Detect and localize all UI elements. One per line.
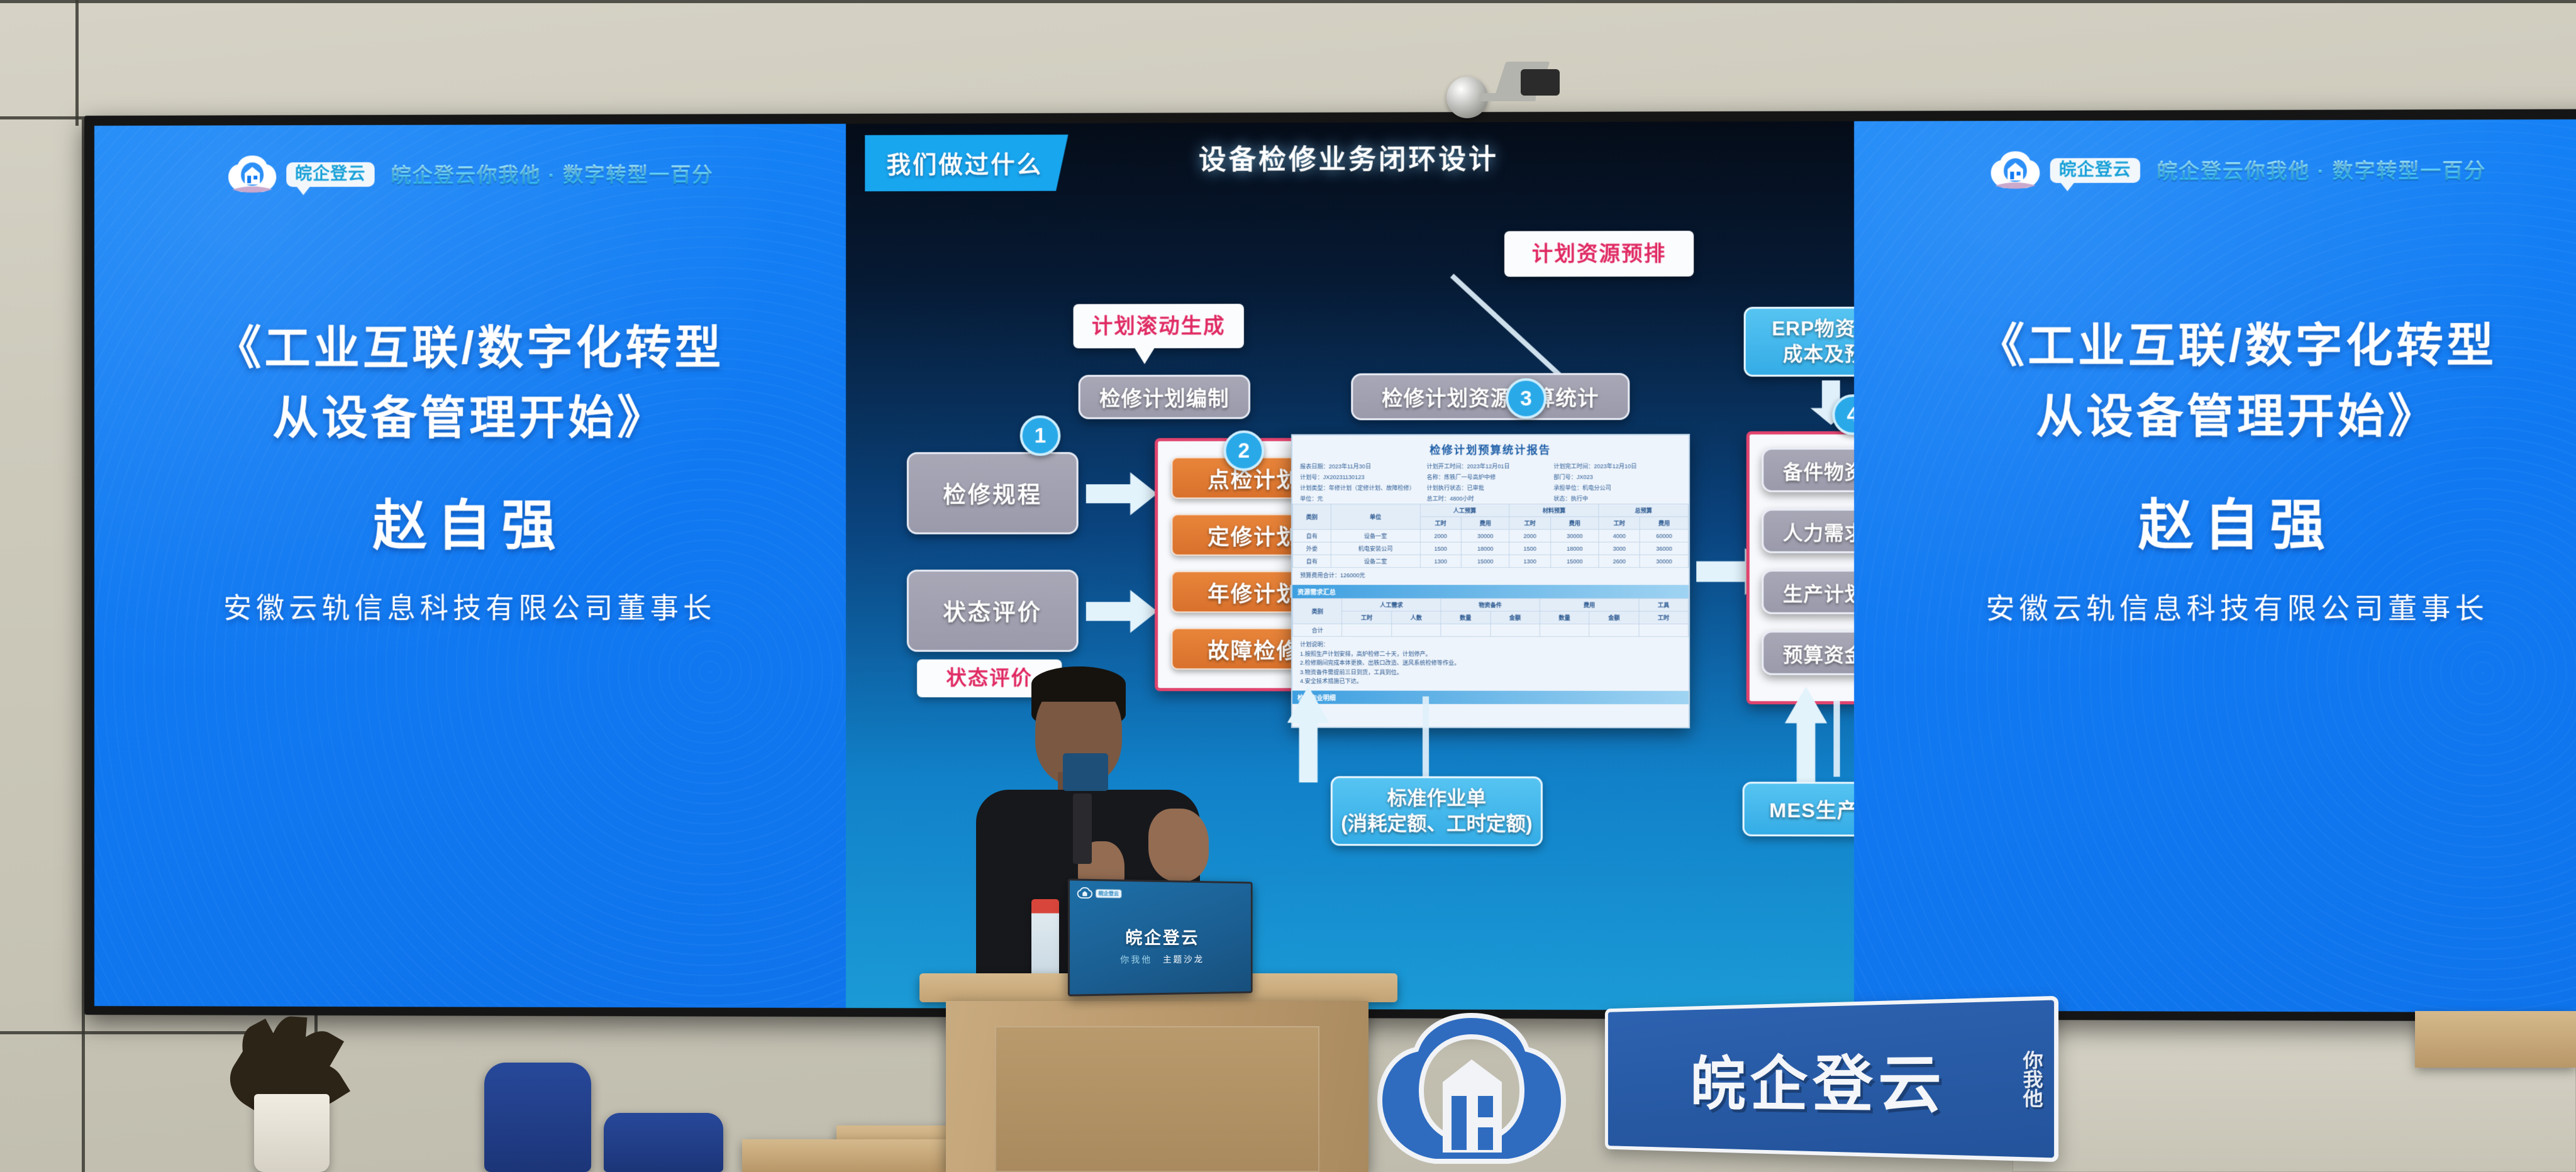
- laptop-sub-right: 主题沙龙: [1163, 954, 1204, 964]
- speaker-name: 赵自强: [1854, 480, 2576, 560]
- subcol-cost: 费用: [1461, 517, 1509, 529]
- cell-category: 自有: [1292, 555, 1331, 567]
- left-title-panel: 皖企登云 皖企登云你我他 · 数字转型一百分 《工业互联/数字化转型 从设备管理…: [94, 124, 846, 1008]
- podium-laptop: 皖企登云 皖企登云 你我他 主题沙龙: [1068, 878, 1253, 996]
- table-row: 外委 机电安装公司 1500 18000 1500 18000 3000 360…: [1292, 542, 1688, 555]
- node-standard-work-order: 标准作业单 (消耗定额、工时定额): [1331, 776, 1543, 846]
- note-line: 3.物资备件需提前三日到货，工具到位。: [1300, 668, 1681, 677]
- wall-seam: [0, 1031, 252, 1034]
- laptop-main-text: 皖企登云: [1070, 924, 1251, 949]
- cell-value: 15000: [1550, 555, 1599, 567]
- brand-badge: 皖企登云: [286, 162, 374, 186]
- side-table-right: [2415, 1011, 2576, 1068]
- subcol-amount: 金额: [1491, 611, 1540, 624]
- callout-leader-line: [1450, 274, 1562, 377]
- sign-main-text: 皖企登云: [1608, 1031, 2054, 1127]
- cell-unit: 设备一室: [1331, 529, 1420, 542]
- cell-value: 1500: [1420, 542, 1461, 555]
- table-header-row: 类别 人工需求 物资备件 费用 工具: [1292, 599, 1688, 611]
- front-row-table: [742, 1139, 950, 1172]
- report-budget-table: 类别 单位 人工预算 材料预算 总预算 工时 费用 工时 费用 工时: [1292, 504, 1689, 568]
- microphone-flag: [1063, 753, 1108, 791]
- cell-value: 36000: [1640, 542, 1689, 555]
- erp-line-2: 成本及预算: [1783, 341, 1854, 367]
- node-mes-system: MES生产系统: [1743, 782, 1854, 836]
- report-meta-item: 计划完工时间：2023年12月10日: [1553, 460, 1680, 471]
- report-meta-item: 部门号：JX023: [1553, 472, 1680, 482]
- right-title-panel: 皖企登云 皖企登云你我他 · 数字转型一百分 《工业互联/数字化转型 从设备管理…: [1854, 119, 2576, 1013]
- cell-total-label: 合计: [1292, 624, 1341, 637]
- wall-seam: [75, 0, 79, 126]
- node-manpower-check: 人力需求检查: [1762, 509, 1854, 553]
- cell-value: 1300: [1420, 555, 1461, 567]
- cloud-house-logo-icon: [1988, 148, 2042, 192]
- speaker-name: 赵自强: [94, 481, 846, 560]
- cell-blank: [1589, 624, 1639, 637]
- report-meta-item: 报表日期：2023年11月30日: [1300, 461, 1426, 472]
- col-unit: 单位: [1331, 504, 1420, 529]
- cell-value: 2000: [1420, 529, 1461, 542]
- report-resource-table: 类别 人工需求 物资备件 费用 工具 工时 人数 数量 金额 数量: [1292, 599, 1689, 638]
- led-wall-screen: 皖企登云 皖企登云你我他 · 数字转型一百分 《工业互联/数字化转型 从设备管理…: [94, 119, 2576, 1013]
- col-cost: 费用: [1540, 599, 1638, 611]
- subcol-hours: 工时: [1509, 517, 1550, 529]
- step-badge-2: 2: [1223, 431, 1264, 471]
- potted-plant-pot: [254, 1094, 330, 1172]
- conference-stage-scene: 皖企登云 皖企登云你我他 · 数字转型一百分 《工业互联/数字化转型 从设备管理…: [0, 0, 2576, 1172]
- node-erp-inventory: ERP物资库存 成本及预算: [1744, 307, 1854, 377]
- talk-title-line2: 从设备管理开始》: [94, 384, 846, 454]
- report-meta-item: 总工时：4800小时: [1427, 493, 1554, 504]
- callout-tail: [1135, 348, 1155, 364]
- blue-chair: [484, 1063, 591, 1172]
- cell-blank: [1639, 624, 1689, 637]
- cloud-house-logo-icon: [1076, 887, 1093, 900]
- arrow-procedure-to-plan: [1086, 472, 1157, 515]
- table-row: 自有 设备二室 1300 15000 1300 15000 2600 30000: [1292, 555, 1688, 567]
- talk-title-line2: 从设备管理开始》: [1854, 382, 2576, 453]
- sign-plate: 皖企登云 你我他: [1605, 996, 2058, 1162]
- brand-slogan: 皖企登云你我他 · 数字转型一百分: [391, 159, 713, 189]
- cell-value: 3000: [1599, 542, 1640, 555]
- cell-value: 18000: [1550, 542, 1599, 555]
- cell-value: 2600: [1599, 555, 1640, 567]
- node-inspection-procedure: 检修规程: [907, 452, 1079, 534]
- col-labor-need: 人工需求: [1342, 599, 1441, 611]
- podium-front-panel: [995, 1026, 1319, 1172]
- sign-side-text: 你我他: [2021, 1050, 2043, 1107]
- embedded-report-screenshot: 检修计划预算统计报告 报表日期：2023年11月30日 计划开工时间：2023年…: [1291, 434, 1690, 728]
- node-budget-statistics: 检修计划资源预算统计: [1351, 373, 1629, 420]
- note-line: 1.按照生产计划安排，高炉检修二十天，计划停产。: [1300, 650, 1681, 659]
- node-plan-preparation: 检修计划编制: [1079, 375, 1250, 419]
- table-subheader-row: 工时 人数 数量 金额 数量 金额 工时: [1292, 611, 1688, 624]
- cell-blank: [1391, 624, 1441, 637]
- camera-body: [1521, 69, 1560, 96]
- brand-logo: 皖企登云: [226, 153, 375, 196]
- cell-value: 1500: [1509, 542, 1550, 555]
- cell-blank: [1441, 624, 1491, 637]
- col-tools: 工具: [1639, 599, 1689, 611]
- node-status-evaluation: 状态评价: [907, 570, 1079, 652]
- callout-plan-resource-scheduling: 计划资源预排: [1504, 231, 1694, 277]
- left-panel-body: 《工业互联/数字化转型 从设备管理开始》 赵自强 安徽云轨信息科技有限公司董事长: [94, 313, 846, 626]
- brand-logo: 皖企登云: [1988, 148, 2140, 192]
- col-labor-budget: 人工预算: [1420, 504, 1509, 517]
- table-header-row: 类别 单位 人工预算 材料预算 总预算: [1292, 504, 1688, 517]
- cell-value: 1300: [1509, 555, 1550, 567]
- security-camera: [1440, 44, 1553, 126]
- wall-seam: [0, 0, 2576, 3]
- subcol-cost: 费用: [1550, 517, 1599, 529]
- note-line: 4.安全技术措施已下达。: [1300, 677, 1681, 686]
- standard-order-line-2: (消耗定额、工时定额): [1341, 811, 1532, 837]
- cell-category: 自有: [1292, 529, 1331, 542]
- col-material-need: 物资备件: [1441, 599, 1540, 611]
- cell-category: 外委: [1292, 542, 1331, 555]
- node-production-plan-check: 生产计划检查: [1762, 570, 1854, 614]
- report-total: 预算费用合计：126000元: [1292, 568, 1689, 583]
- cell-blank: [1342, 624, 1392, 637]
- subcol-hours: 工时: [1342, 611, 1392, 624]
- callout-plan-resource-text: 计划资源预排: [1532, 240, 1667, 268]
- right-panel-body: 《工业互联/数字化转型 从设备管理开始》 赵自强 安徽云轨信息科技有限公司董事长: [1854, 311, 2576, 627]
- person-hair-top: [1031, 666, 1126, 702]
- report-meta-item: 计划开工时间：2023年12月01日: [1427, 461, 1554, 472]
- subcol-hours: 工时: [1420, 517, 1461, 529]
- speaker-org: 安徽云轨信息科技有限公司董事长: [1854, 585, 2576, 627]
- report-meta-item: 计划号：JX20231130123: [1300, 472, 1426, 482]
- cloud-house-logo-icon: [1377, 1008, 1566, 1165]
- cell-unit: 机电安装公司: [1331, 542, 1420, 555]
- col-total-budget: 总预算: [1599, 504, 1688, 517]
- subcol-cost: 费用: [1640, 517, 1689, 529]
- erp-line-1: ERP物资库存: [1772, 316, 1854, 342]
- note-line: 2.检修期间完成本体更换、出铁口改造、送风系统检修等作业。: [1300, 658, 1681, 668]
- col-category: 类别: [1292, 599, 1341, 624]
- report-meta-item: 计划类型：年修计划（定修计划、故障检修）: [1300, 482, 1426, 493]
- cell-value: 30000: [1640, 555, 1689, 567]
- report-meta: 报表日期：2023年11月30日 计划开工时间：2023年12月01日 计划完工…: [1292, 460, 1689, 504]
- brand-slogan: 皖企登云你我他 · 数字转型一百分: [2157, 155, 2486, 185]
- subcol-qty: 数量: [1441, 611, 1491, 624]
- backdrop-brand-sign: 皖企登云 你我他: [1377, 997, 2069, 1172]
- brand-badge: 皖企登云: [2050, 158, 2140, 183]
- notes-label: 计划说明：: [1300, 640, 1681, 650]
- speaker-org: 安徽云轨信息科技有限公司董事长: [94, 585, 846, 626]
- microphone-handle: [1073, 793, 1092, 864]
- report-meta-item: 状态：执行中: [1553, 493, 1680, 504]
- subcol-headcount: 人数: [1391, 611, 1441, 624]
- laptop-logo: 皖企登云: [1076, 887, 1121, 900]
- laptop-sub-left: 你我他: [1120, 954, 1152, 965]
- callout-rolling-plan-generation: 计划滚动生成: [1074, 304, 1244, 348]
- left-brand-bar: 皖企登云 皖企登云你我他 · 数字转型一百分: [94, 152, 846, 196]
- report-notes: 计划说明： 1.按照生产计划安排，高炉检修二十天，计划停产。 2.检修期间完成本…: [1292, 637, 1689, 689]
- report-meta-item: 单位：元: [1300, 493, 1426, 504]
- wall-seam: [0, 116, 88, 119]
- cell-value: 4000: [1599, 529, 1640, 542]
- arrow-status-to-plan: [1086, 590, 1157, 633]
- speaker-podium: [919, 973, 1397, 1172]
- source-connector-line: [1833, 700, 1840, 777]
- subcol-hours: 工时: [1639, 612, 1689, 624]
- right-brand-bar: 皖企登云 皖企登云你我他 · 数字转型一百分: [1854, 147, 2576, 192]
- step-badge-3: 3: [1506, 378, 1546, 419]
- cell-value: 15000: [1461, 555, 1509, 567]
- led-video-wall: 皖企登云 皖企登云你我他 · 数字转型一百分 《工业互联/数字化转型 从设备管理…: [94, 119, 2576, 1013]
- source-connector-line: [1423, 697, 1429, 777]
- report-meta-item: 计划执行状态：已审批: [1427, 482, 1554, 493]
- slide-title: 设备检修业务闭环设计: [846, 136, 1854, 178]
- subcol-qty: 数量: [1540, 612, 1589, 624]
- node-spare-parts-demand: 备件物资需求: [1762, 448, 1854, 492]
- talk-title-line1: 《工业互联/数字化转型: [94, 313, 846, 384]
- report-section-3: 检修作业明细: [1292, 691, 1689, 705]
- callout-rolling-plan-text: 计划滚动生成: [1092, 312, 1226, 340]
- cell-unit: 设备二室: [1331, 555, 1420, 567]
- report-meta-item: 名称：炼铁厂一号高炉中修: [1427, 472, 1554, 482]
- subcol-amount: 金额: [1589, 612, 1639, 624]
- table-row: 合计: [1292, 624, 1688, 637]
- node-budget-funds-check: 预算资金检查: [1762, 631, 1854, 675]
- cell-value: 2000: [1509, 529, 1550, 542]
- col-category: 类别: [1292, 504, 1331, 529]
- cell-value: 60000: [1640, 529, 1689, 542]
- subcol-hours: 工时: [1599, 517, 1640, 529]
- col-material-budget: 材料预算: [1509, 504, 1599, 517]
- cell-value: 30000: [1550, 529, 1599, 542]
- report-meta-item: 承担单位：机电分公司: [1553, 482, 1680, 493]
- person-open-hand: [1148, 809, 1209, 882]
- cell-value: 18000: [1461, 542, 1509, 555]
- laptop-badge-text: 皖企登云: [1096, 889, 1121, 898]
- blue-chair: [604, 1113, 723, 1172]
- talk-title-line1: 《工业互联/数字化转型: [1854, 311, 2576, 382]
- report-title: 检修计划预算统计报告: [1292, 435, 1689, 461]
- standard-order-line-1: 标准作业单: [1387, 785, 1486, 811]
- laptop-sub-text: 你我他 主题沙龙: [1070, 953, 1251, 966]
- cloud-house-logo-icon: [226, 153, 279, 196]
- step-badge-1: 1: [1020, 416, 1061, 456]
- cell-blank: [1491, 624, 1540, 637]
- cell-blank: [1540, 624, 1589, 637]
- cell-value: 30000: [1461, 529, 1509, 542]
- report-section-2: 资源需求汇总: [1292, 585, 1689, 599]
- table-row: 自有 设备一室 2000 30000 2000 30000 4000 60000: [1292, 529, 1688, 542]
